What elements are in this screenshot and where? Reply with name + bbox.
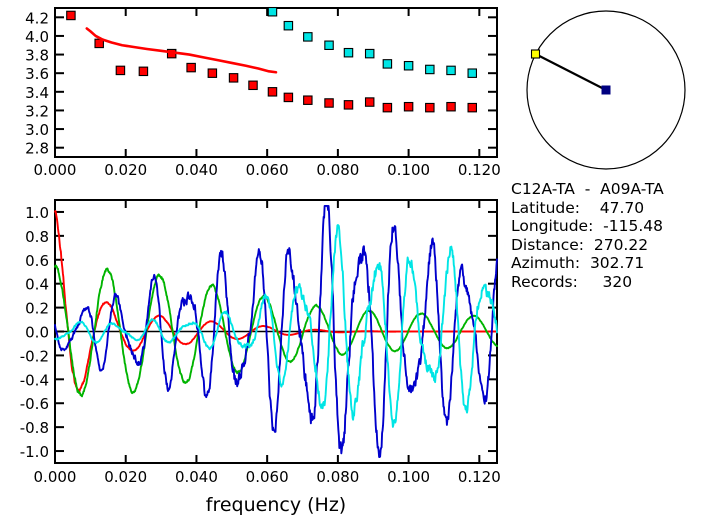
- great-circle-inset-panel: [508, 2, 703, 174]
- plot-frame: [55, 8, 497, 157]
- tick-label: -0.8: [20, 419, 49, 437]
- tick-label: 0.000: [34, 161, 77, 179]
- data-point-marker: [426, 103, 434, 111]
- data-point-marker: [468, 103, 476, 111]
- tick-label: 0.120: [458, 468, 501, 486]
- tick-label: 0.2: [25, 300, 49, 318]
- data-point-marker: [304, 33, 312, 41]
- tick-label: 0.4: [25, 276, 49, 294]
- data-point-marker: [344, 49, 352, 57]
- data-point-marker: [229, 74, 237, 82]
- data-point-marker: [208, 69, 216, 77]
- series-phase-velocity-cyan-markers: [268, 8, 476, 78]
- tick-label: 0.080: [316, 468, 359, 486]
- tick-label: 0.080: [316, 161, 359, 179]
- station-marker-yellow: [532, 50, 540, 58]
- tick-label: -0.2: [20, 347, 49, 365]
- data-point-marker: [447, 66, 455, 74]
- tick-label: 3.0: [25, 121, 49, 139]
- tick-label: 0.040: [175, 468, 218, 486]
- data-point-marker: [187, 63, 195, 71]
- data-point-marker: [284, 21, 292, 29]
- great-circle-inset-svg: [508, 2, 703, 174]
- tick-label: 0.000: [34, 468, 77, 486]
- data-point-marker: [426, 65, 434, 73]
- data-point-marker: [268, 8, 276, 16]
- tick-label: 0.020: [104, 161, 147, 179]
- station-pair-label: C12A-TA - A09A-TA: [511, 180, 703, 199]
- tick-label: -0.6: [20, 395, 49, 413]
- tick-label: 0.020: [104, 468, 147, 486]
- tick-label: 3.2: [25, 102, 49, 120]
- data-point-marker: [404, 62, 412, 70]
- tick-label: 0.060: [246, 161, 289, 179]
- tick-label: 0.120: [458, 161, 501, 179]
- data-point-marker: [383, 103, 391, 111]
- center-marker-blue: [602, 86, 610, 94]
- tick-label: 0.8: [25, 228, 49, 246]
- latitude-row: Latitude: 47.70: [511, 199, 703, 218]
- dispersion-plot-panel: 0.0000.0200.0400.0600.0800.1000.1202.83.…: [0, 0, 510, 190]
- station-info-panel: C12A-TA - A09A-TA Latitude: 47.70 Longit…: [511, 180, 703, 292]
- data-point-marker: [325, 99, 333, 107]
- data-point-marker: [116, 66, 124, 74]
- tick-label: 0.6: [25, 252, 49, 270]
- data-point-marker: [304, 96, 312, 104]
- azimuth-row: Azimuth: 302.71: [511, 254, 703, 273]
- tick-label: -0.4: [20, 371, 49, 389]
- data-point-marker: [139, 67, 147, 75]
- series-group-velocity-red-markers: [67, 11, 477, 112]
- tick-label: 0.060: [246, 468, 289, 486]
- data-point-marker: [468, 69, 476, 77]
- x-axis-title: frequency (Hz): [206, 494, 346, 516]
- tick-label: 4.2: [25, 9, 49, 27]
- tick-label: 0.040: [175, 161, 218, 179]
- data-point-marker: [366, 49, 374, 57]
- data-point-marker: [284, 93, 292, 101]
- data-point-marker: [404, 103, 412, 111]
- spectra-plot-panel: 0.0000.0200.0400.0600.0800.1000.120-1.0-…: [0, 190, 510, 519]
- tick-label: 3.6: [25, 65, 49, 83]
- data-point-marker: [268, 88, 276, 96]
- data-point-marker: [383, 60, 391, 68]
- data-point-marker: [325, 41, 333, 49]
- dispersion-curve-line: [87, 28, 276, 72]
- records-row: Records: 320: [511, 273, 703, 292]
- tick-label: 3.8: [25, 47, 49, 65]
- tick-label: 2.8: [25, 140, 49, 158]
- station-path-line: [536, 54, 607, 90]
- tick-label: -1.0: [20, 443, 49, 461]
- spectra-plot-svg: 0.0000.0200.0400.0600.0800.1000.120-1.0-…: [0, 190, 510, 519]
- series-predicted-dispersion-red-line: [87, 28, 276, 72]
- tick-label: 0.0: [25, 324, 49, 342]
- longitude-row: Longitude: -115.48: [511, 217, 703, 236]
- dispersion-axes: 0.0000.0200.0400.0600.0800.1000.1202.83.…: [25, 8, 501, 179]
- tick-label: 0.100: [387, 468, 430, 486]
- data-point-marker: [344, 101, 352, 109]
- tick-label: 0.100: [387, 161, 430, 179]
- data-point-marker: [447, 103, 455, 111]
- distance-row: Distance: 270.22: [511, 236, 703, 255]
- tick-label: 1.0: [25, 204, 49, 222]
- data-point-marker: [249, 81, 257, 89]
- tick-label: 4.0: [25, 28, 49, 46]
- data-point-marker: [366, 98, 374, 106]
- data-point-marker: [67, 11, 75, 19]
- tick-label: 3.4: [25, 84, 49, 102]
- dispersion-plot-svg: 0.0000.0200.0400.0600.0800.1000.1202.83.…: [0, 0, 510, 190]
